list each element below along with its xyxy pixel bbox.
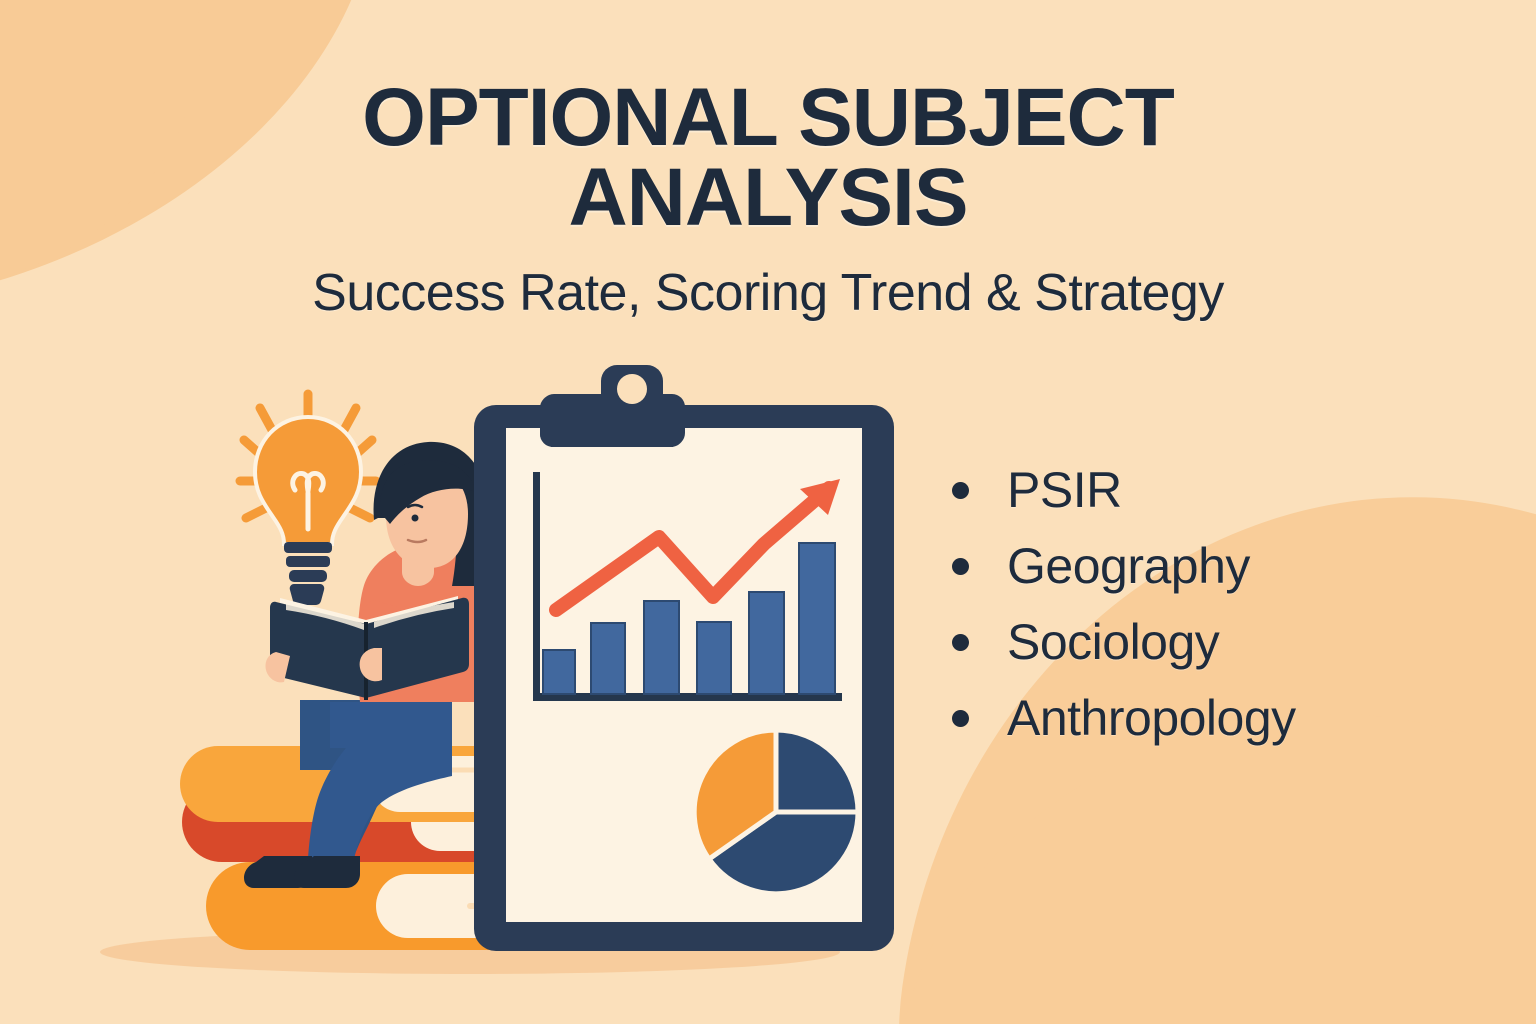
subject-label: PSIR — [1007, 461, 1122, 519]
bullet-dot-icon — [952, 558, 969, 575]
bullet-dot-icon — [952, 710, 969, 727]
bullet-dot-icon — [952, 634, 969, 651]
list-item: Geography — [952, 528, 1296, 604]
bar-2 — [591, 623, 625, 694]
lightbulb-icon — [240, 394, 376, 605]
bar-chart-x-axis — [533, 693, 842, 701]
bar-chart-y-axis — [533, 472, 540, 700]
bar-3 — [644, 601, 679, 694]
clipboard-icon — [474, 365, 894, 951]
poster-heading-group: OPTIONAL SUBJECT ANALYSIS Success Rate, … — [0, 78, 1536, 323]
subject-list: PSIR Geography Sociology Anthropology — [952, 452, 1296, 756]
subject-label: Sociology — [1007, 613, 1219, 671]
list-item: Anthropology — [952, 680, 1296, 756]
bar-1 — [543, 650, 575, 694]
bar-4 — [697, 622, 731, 694]
list-item: Sociology — [952, 604, 1296, 680]
clipboard-clip-icon — [540, 365, 685, 447]
subject-label: Anthropology — [1007, 689, 1296, 747]
bar-5 — [749, 592, 784, 694]
bullet-dot-icon — [952, 482, 969, 499]
poster-canvas: OPTIONAL SUBJECT ANALYSIS Success Rate, … — [0, 0, 1536, 1024]
lightbulb-base-icon — [284, 542, 332, 605]
page-title-line-2: ANALYSIS — [0, 158, 1536, 238]
pie-chart — [694, 730, 858, 894]
list-item: PSIR — [952, 452, 1296, 528]
page-title-line-1: OPTIONAL SUBJECT — [0, 78, 1536, 158]
bar-6 — [799, 543, 835, 694]
person-eye — [412, 515, 419, 522]
subject-label: Geography — [1007, 537, 1250, 595]
page-subtitle: Success Rate, Scoring Trend & Strategy — [0, 263, 1536, 323]
